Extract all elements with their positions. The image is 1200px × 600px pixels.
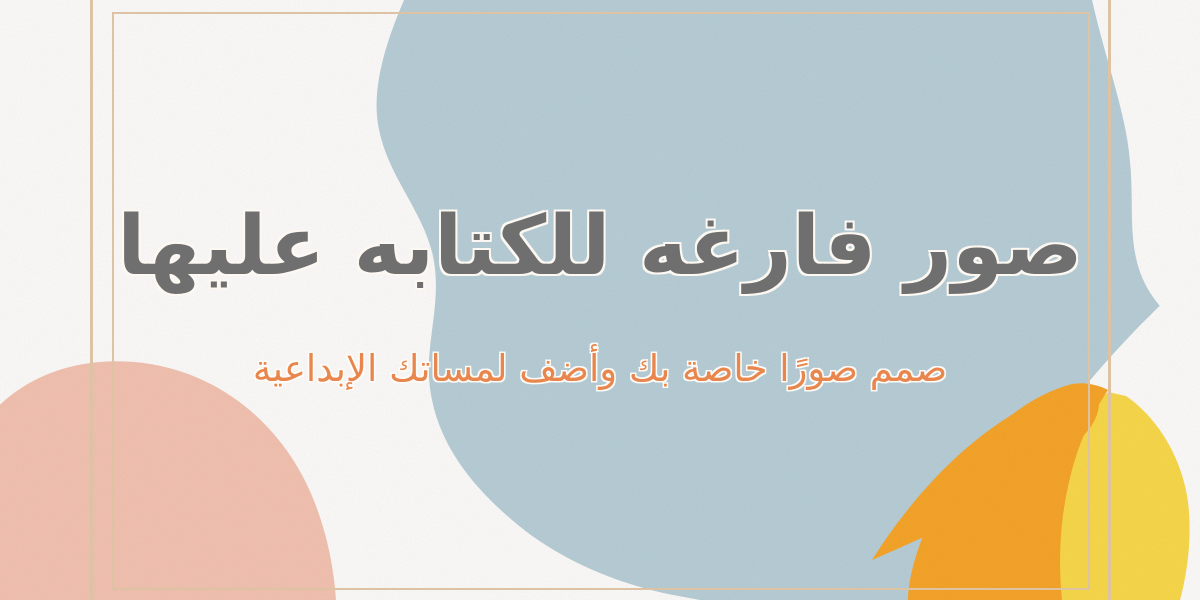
- decorative-shape-layer: [0, 0, 1200, 600]
- paper-grain-overlay: [0, 0, 1200, 600]
- banner-canvas: صور فارغه للكتابه عليها صمم صورًا خاصة ب…: [0, 0, 1200, 600]
